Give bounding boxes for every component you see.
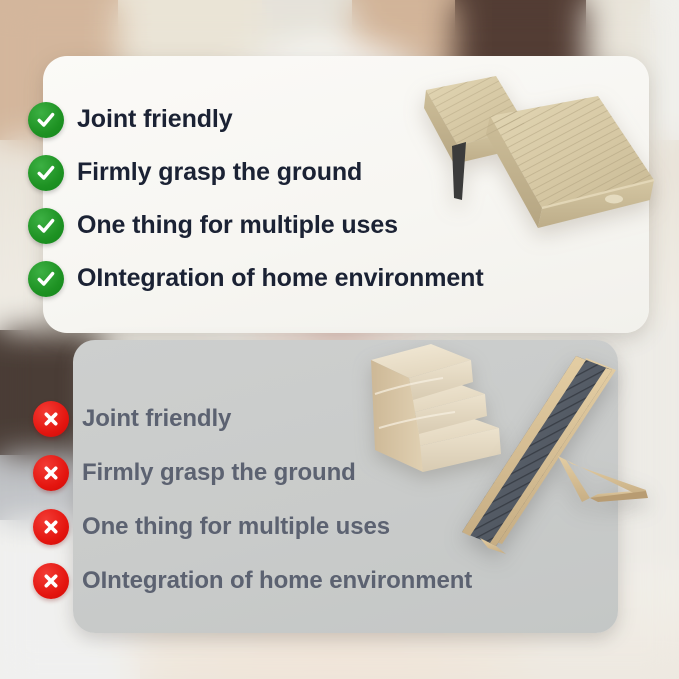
- cross-circle-icon: [33, 563, 69, 599]
- feature-row: One thing for multiple uses: [28, 199, 484, 252]
- feature-label: OIntegration of home environment: [77, 264, 484, 293]
- feature-label: Firmly grasp the ground: [77, 158, 362, 187]
- feature-row: OIntegration of home environment: [33, 554, 472, 608]
- feature-label: Joint friendly: [77, 105, 233, 134]
- feature-label: OIntegration of home environment: [82, 567, 472, 595]
- feature-label: Joint friendly: [82, 405, 231, 433]
- check-circle-icon: [28, 155, 64, 191]
- feature-row: One thing for multiple uses: [33, 500, 472, 554]
- cross-circle-icon: [33, 401, 69, 437]
- feature-row: OIntegration of home environment: [28, 252, 484, 305]
- feature-label: One thing for multiple uses: [77, 211, 398, 240]
- grey-wooden-folding-ramp-image: [440, 348, 675, 578]
- feature-label: Firmly grasp the ground: [82, 459, 356, 487]
- check-circle-icon: [28, 102, 64, 138]
- cross-circle-icon: [33, 509, 69, 545]
- feature-row: Firmly grasp the ground: [28, 146, 484, 199]
- other-products-feature-list: Joint friendly Firmly grasp the ground O…: [33, 392, 472, 608]
- check-circle-icon: [28, 261, 64, 297]
- feature-row: Firmly grasp the ground: [33, 446, 472, 500]
- our-product-feature-list: Joint friendly Firmly grasp the ground O…: [28, 93, 484, 305]
- feature-label: One thing for multiple uses: [82, 513, 390, 541]
- feature-row: Joint friendly: [28, 93, 484, 146]
- cross-circle-icon: [33, 455, 69, 491]
- comparison-infographic: Joint friendly Firmly grasp the ground O…: [0, 0, 679, 679]
- feature-row: Joint friendly: [33, 392, 472, 446]
- check-circle-icon: [28, 208, 64, 244]
